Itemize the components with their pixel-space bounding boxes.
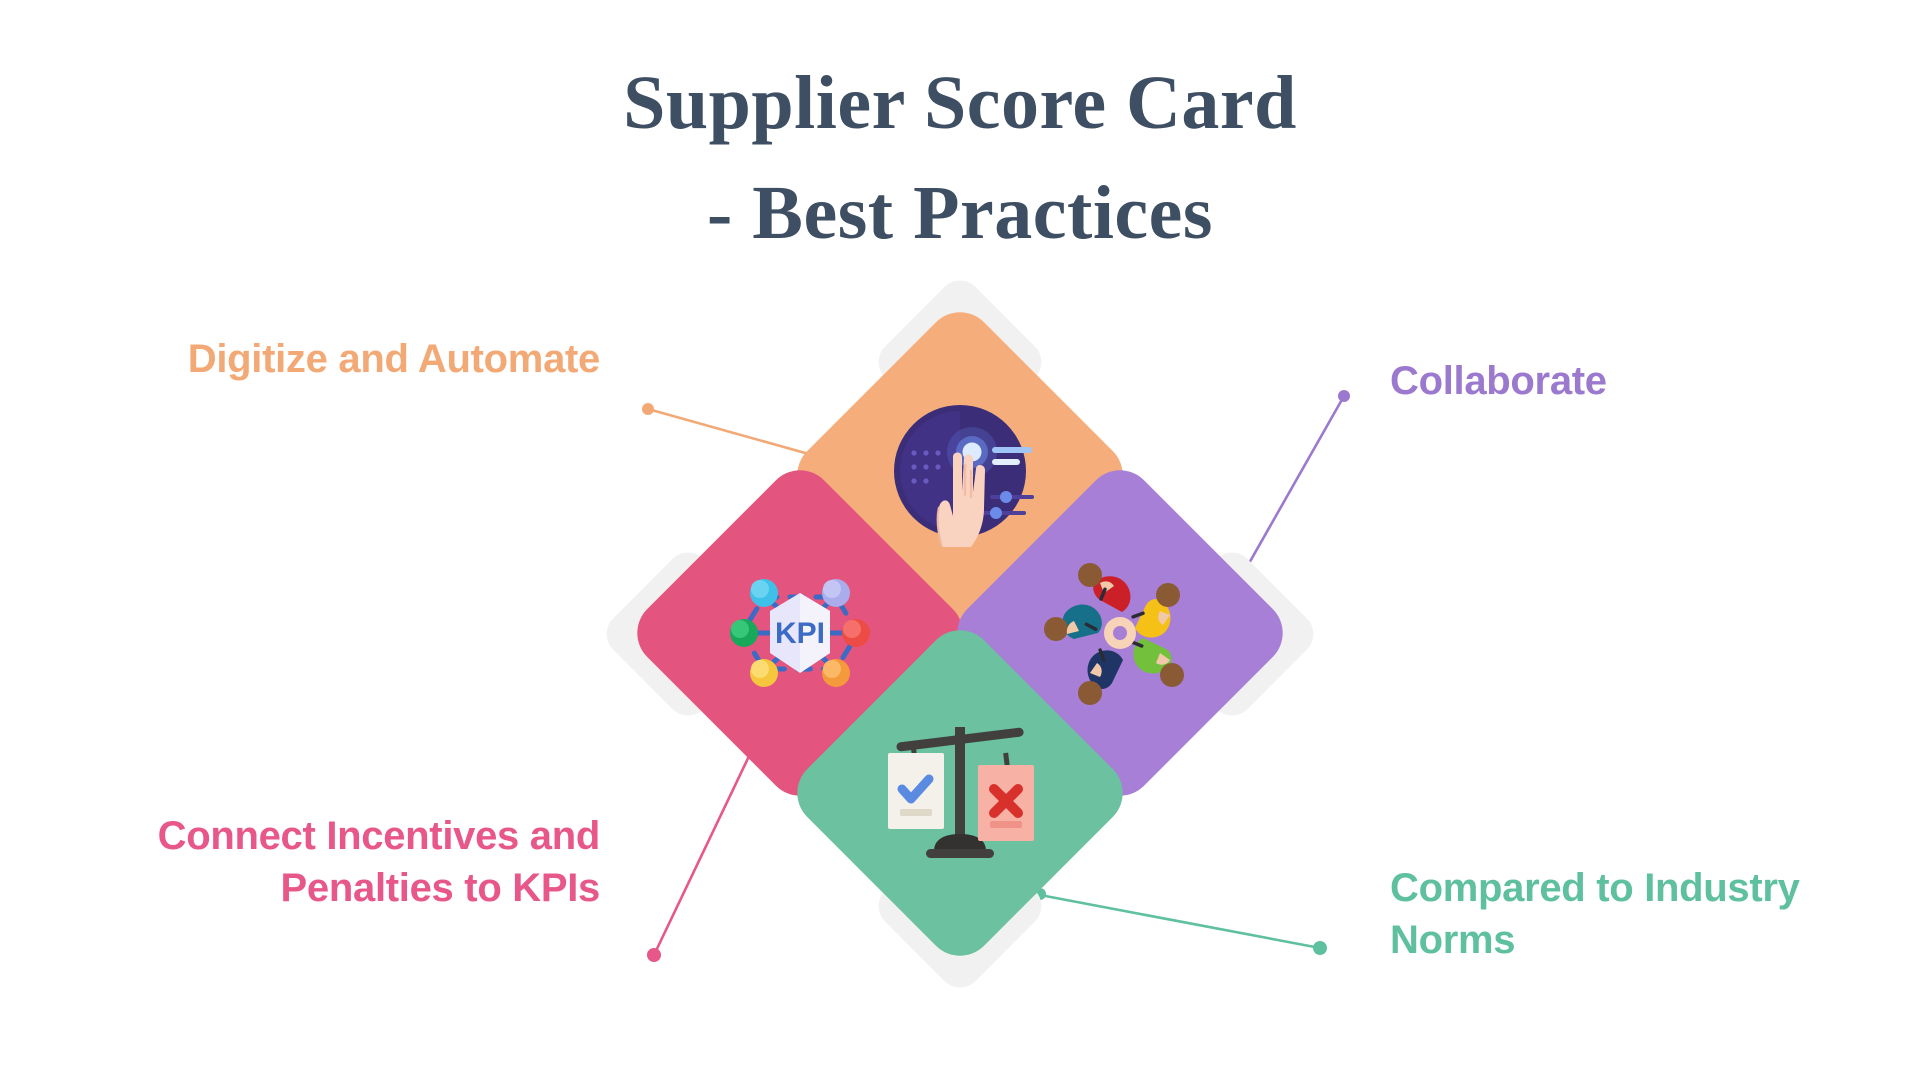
- label-collaborate: Collaborate: [1390, 355, 1850, 407]
- diamond-cluster: KPI: [690, 360, 1230, 1000]
- label-compared-to-industry-norms: Compared to Industry Norms: [1390, 862, 1830, 966]
- title-line-1: Supplier Score Card: [0, 48, 1920, 158]
- page-title: Supplier Score Card - Best Practices: [0, 48, 1920, 268]
- kpi-label: KPI: [775, 617, 825, 650]
- label-digitize-and-automate: Digitize and Automate: [180, 333, 600, 385]
- team-collaboration-icon: [1040, 553, 1200, 713]
- title-line-2: - Best Practices: [0, 158, 1920, 268]
- kpi-network-icon: KPI: [720, 553, 880, 713]
- label-connect-incentives: Connect Incentives and Penalties to KPIs: [150, 810, 600, 914]
- balance-scale-icon: [878, 711, 1043, 876]
- infographic-page: { "title": { "line1": "Supplier Score Ca…: [0, 0, 1920, 1080]
- touch-automation-icon: [880, 395, 1040, 555]
